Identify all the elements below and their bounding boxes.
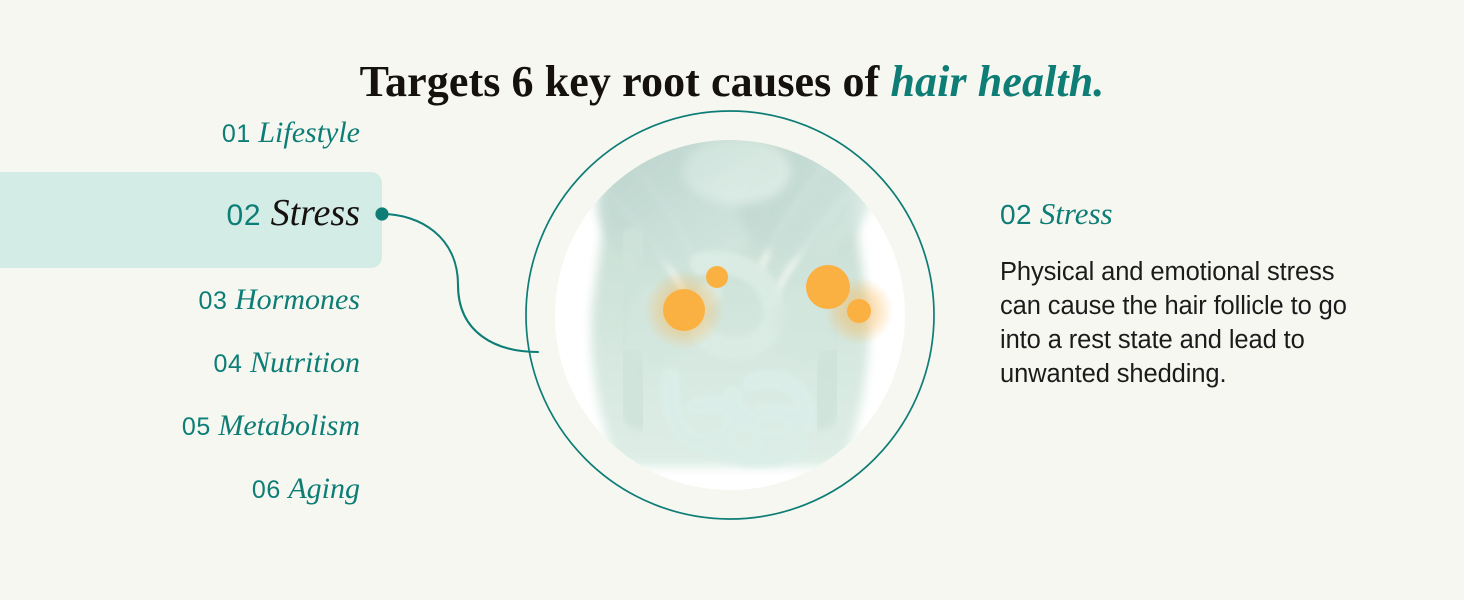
cause-item-label: Aging xyxy=(288,472,360,505)
marker-left-small xyxy=(706,266,728,288)
cause-item-label: Lifestyle xyxy=(258,116,360,149)
connector-dot xyxy=(375,207,388,220)
cause-item-lifestyle[interactable]: 01 Lifestyle xyxy=(222,116,360,151)
infographic-root: Targets 6 key root causes of hair health… xyxy=(0,0,1464,600)
cause-item-label: Stress xyxy=(271,192,360,234)
diaphragm-shape xyxy=(683,137,791,205)
cause-item-number: 05 xyxy=(182,413,211,441)
cause-item-label: Hormones xyxy=(235,283,360,316)
detail-number: 02 xyxy=(1000,199,1032,230)
marker-right-large xyxy=(806,265,850,309)
detail-panel: 02 Stress Physical and emotional stress … xyxy=(1000,196,1400,391)
cause-item-metabolism[interactable]: 05 Metabolism xyxy=(182,409,360,444)
cause-item-number: 06 xyxy=(252,476,281,504)
marker-left-large xyxy=(663,289,705,331)
cause-item-number: 04 xyxy=(213,350,242,378)
cause-item-aging[interactable]: 06 Aging xyxy=(252,472,360,507)
cause-item-label: Metabolism xyxy=(218,409,360,442)
detail-body-text: Physical and emotional stress can cause … xyxy=(1000,255,1380,391)
cause-item-number: 01 xyxy=(222,120,251,148)
cause-item-number: 02 xyxy=(227,199,262,232)
cause-item-stress[interactable]: 02 Stress xyxy=(227,192,360,237)
detail-heading: 02 Stress xyxy=(1000,196,1400,233)
detail-label: Stress xyxy=(1040,196,1113,231)
cause-item-number: 03 xyxy=(198,287,227,315)
cause-item-hormones[interactable]: 03 Hormones xyxy=(198,283,360,318)
marker-right-small xyxy=(847,299,871,323)
illustration-content xyxy=(591,130,893,467)
cause-item-label: Nutrition xyxy=(250,346,360,379)
anatomy-illustration xyxy=(505,95,955,535)
cause-list: 01 Lifestyle 02 Stress 03 Hormones 04 Nu… xyxy=(0,100,382,530)
cause-item-nutrition[interactable]: 04 Nutrition xyxy=(213,346,360,381)
